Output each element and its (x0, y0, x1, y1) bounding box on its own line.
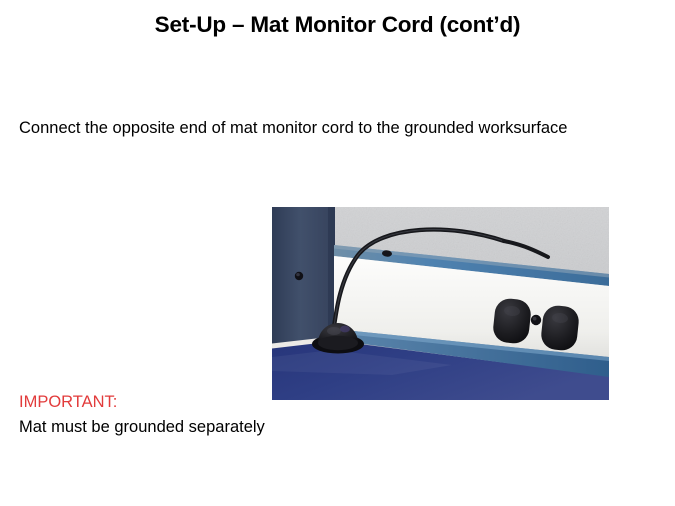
panel-screw (295, 272, 303, 280)
cord-base-plug-tint (340, 326, 350, 333)
photo-illustration (272, 207, 609, 400)
important-label: IMPORTANT: (19, 392, 439, 413)
instruction-text: Connect the opposite end of mat monitor … (19, 117, 619, 139)
page-title: Set-Up – Mat Monitor Cord (cont’d) (0, 12, 675, 38)
center-screw-highlight (533, 317, 537, 321)
side-panel (272, 207, 335, 346)
cord-base-rim (318, 336, 358, 350)
important-note-text: Mat must be grounded separately (19, 416, 439, 438)
center-screw (531, 315, 541, 325)
cord-base-highlight (327, 327, 341, 335)
important-note: IMPORTANT: Mat must be grounded separate… (19, 392, 439, 438)
photo-mat-monitor-cord (272, 207, 609, 400)
panel-screw-highlight (296, 273, 300, 276)
slide: Set-Up – Mat Monitor Cord (cont’d) Conne… (0, 0, 675, 506)
